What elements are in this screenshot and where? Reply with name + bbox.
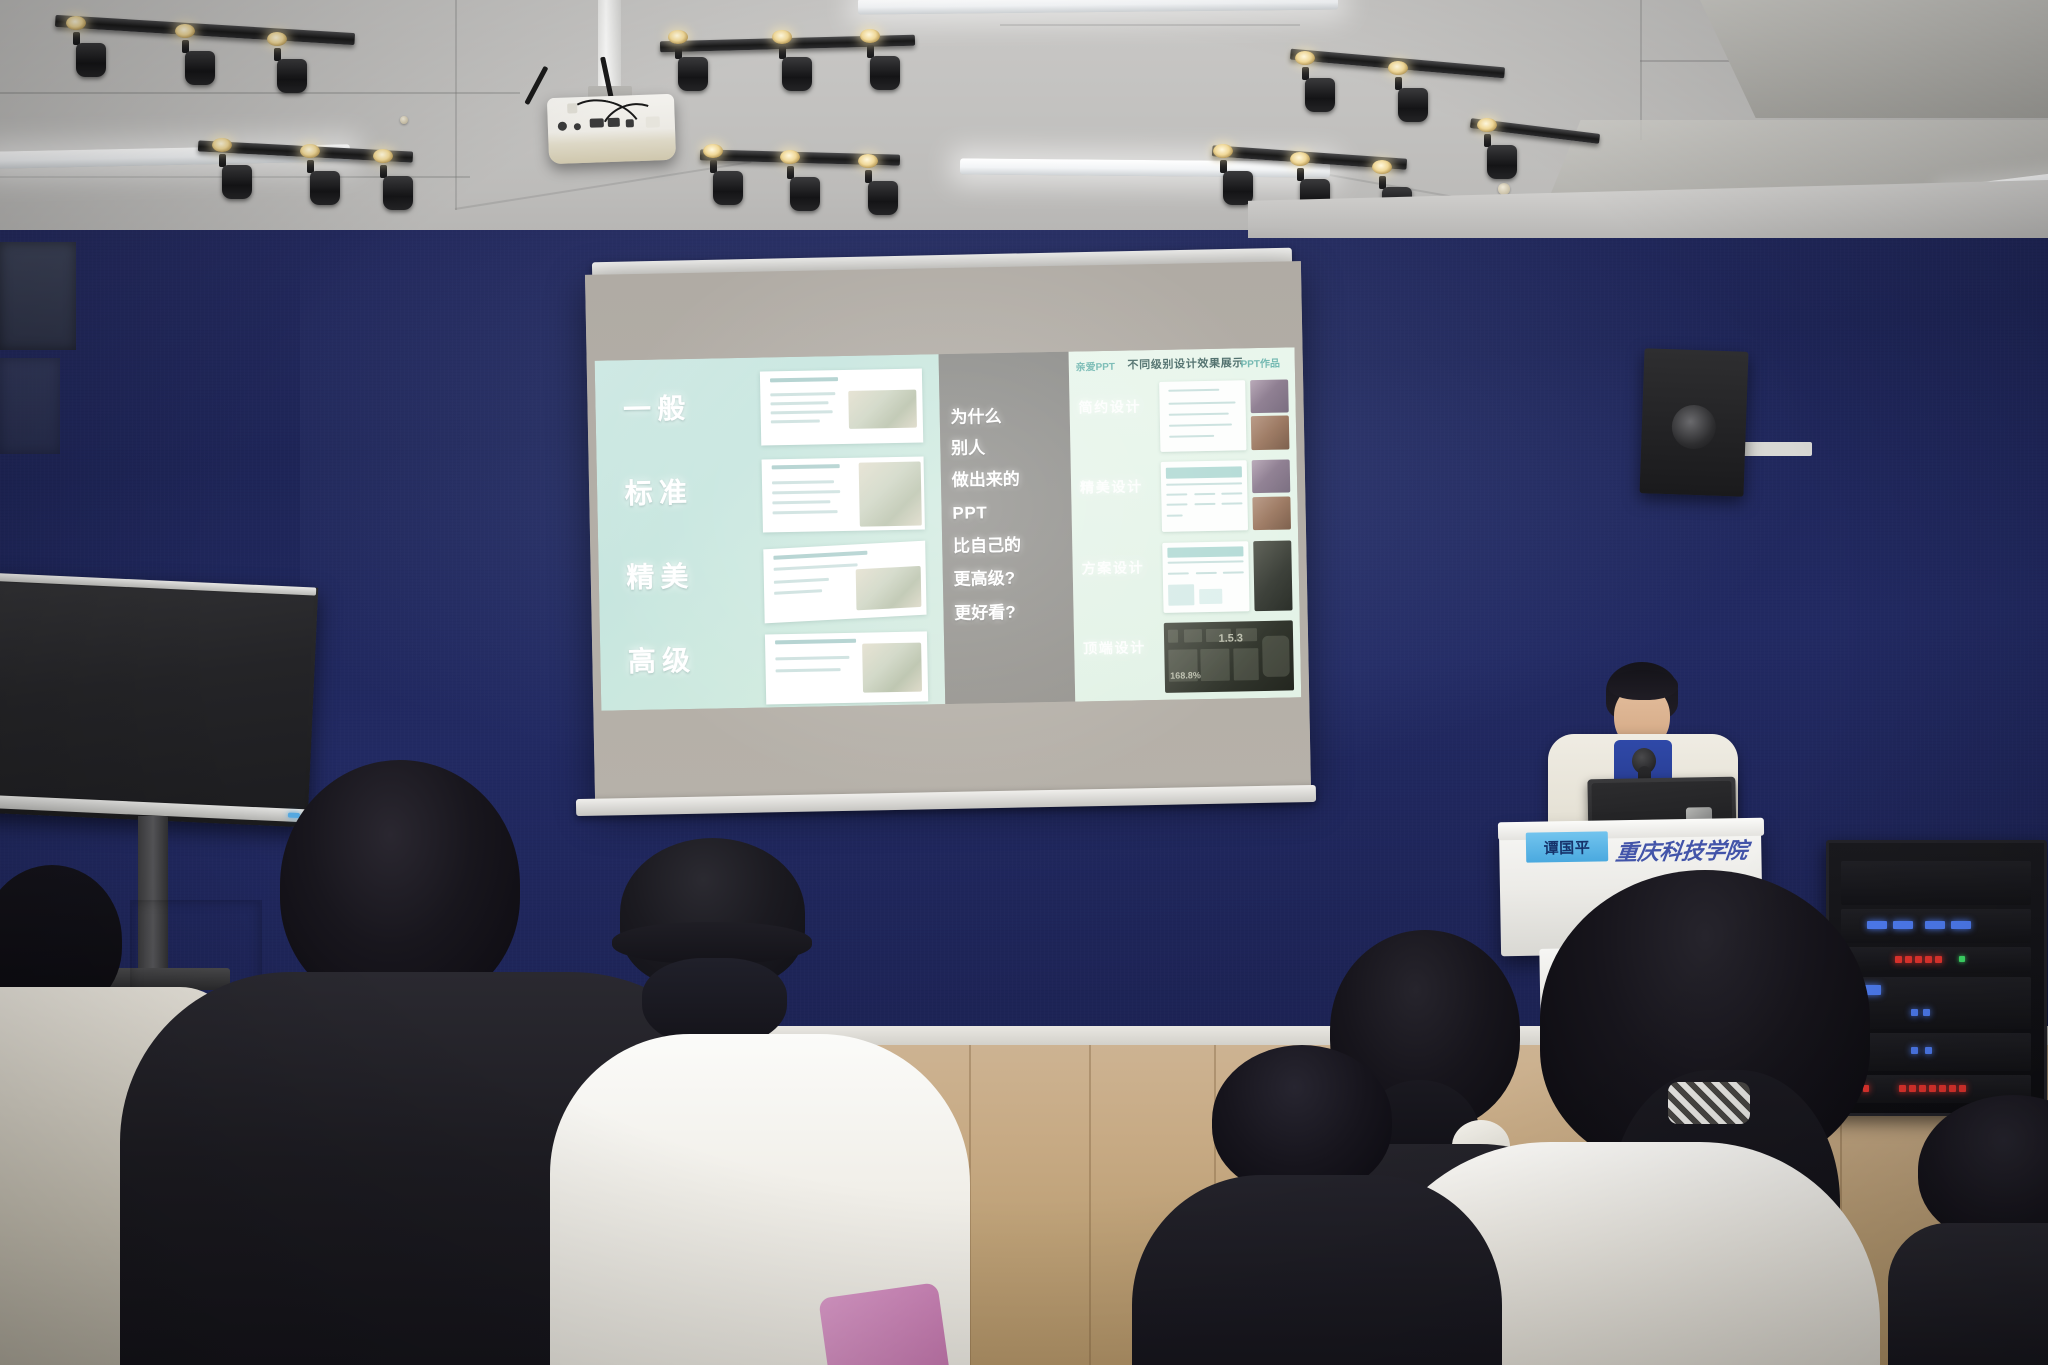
question-line-4: 比自己的 <box>953 535 1021 559</box>
question-line-1: 别人 <box>951 437 985 460</box>
presenter-fringe <box>1608 670 1678 700</box>
showcase-dashboard: 168.8% 1.5.3 <box>1164 620 1294 692</box>
slide-header-center: 不同级别设计效果展示 <box>1127 354 1244 372</box>
podium-institution-logo: 重庆科技学院 <box>1614 833 1750 867</box>
design-label-0: 简约设计 <box>1078 396 1141 417</box>
podium-name-tag: 谭国平 <box>1526 831 1609 862</box>
slide-thumbnail <box>760 368 923 445</box>
showcase-image <box>1252 496 1291 530</box>
design-label-1: 精美设计 <box>1080 476 1143 497</box>
question-line-6: 更好看? <box>954 601 1016 625</box>
projected-slide: 一般 标准 精美 高级 <box>595 347 1302 710</box>
acoustic-panel-left-2 <box>0 358 60 454</box>
level-label-2: 精美 <box>626 555 695 596</box>
question-line-3: PPT <box>952 502 988 525</box>
audience-member-with-cap <box>590 838 920 1365</box>
level-label-3: 高级 <box>628 639 697 680</box>
hair-scrunchie <box>1668 1082 1750 1124</box>
showcase-image <box>1251 416 1290 450</box>
sprinkler-head-2 <box>400 116 408 124</box>
question-line-2: 做出来的 <box>952 468 1020 492</box>
slide-right-panel: 亲爱PPT 不同级别设计效果展示 PPT作品 简约设计 精美设计 方案设计 顶端… <box>1068 347 1301 701</box>
showcase-image <box>1251 459 1290 493</box>
slide-header-left: 亲爱PPT <box>1075 358 1115 374</box>
slide-header-right: PPT作品 <box>1240 355 1280 371</box>
slide-left-panel: 一般 标准 精美 高级 <box>595 354 946 711</box>
podium-name-tag-text: 谭国平 <box>1543 836 1590 858</box>
lecture-hall-photo: 一般 标准 精美 高级 <box>0 0 2048 1365</box>
design-label-2: 方案设计 <box>1081 557 1144 578</box>
strip-light-3 <box>960 158 1330 177</box>
design-label-3: 顶端设计 <box>1083 637 1146 658</box>
showcase-card <box>1163 541 1250 613</box>
showcase-card <box>1159 380 1246 452</box>
level-label-1: 标准 <box>624 471 693 512</box>
audience-member <box>1192 1045 1442 1365</box>
acoustic-panel-left <box>0 242 76 350</box>
wall-speaker <box>1640 348 1749 497</box>
showcase-card <box>1161 460 1248 532</box>
slide-thumbnail <box>764 541 927 623</box>
showcase-image <box>1253 540 1293 611</box>
slide-thumbnail <box>765 631 928 704</box>
slide-thumbnail <box>762 456 925 533</box>
question-line-5: 更高级? <box>953 568 1015 592</box>
level-label-0: 一般 <box>623 387 692 428</box>
slide-middle-panel: 为什么 别人 做出来的 PPT 比自己的 更高级? 更好看? <box>939 352 1075 704</box>
showcase-image <box>1250 379 1289 413</box>
audience-member <box>1918 1095 2048 1365</box>
sprinkler-head <box>1498 183 1510 195</box>
projection-screen: 一般 标准 精美 高级 <box>585 261 1311 805</box>
question-line-0: 为什么 <box>950 405 1001 429</box>
